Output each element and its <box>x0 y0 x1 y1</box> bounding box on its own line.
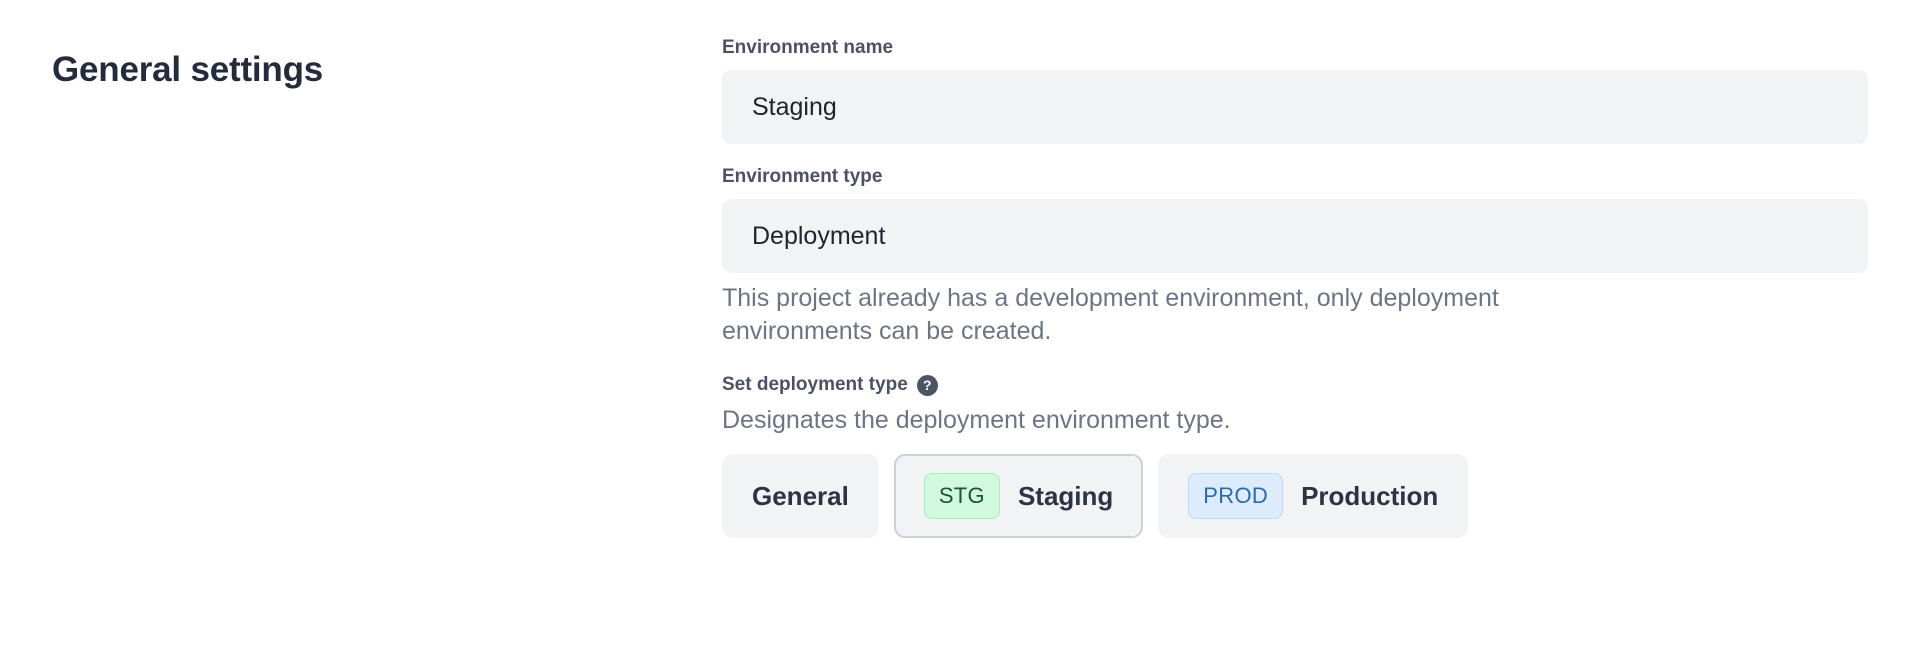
option-label-general: General <box>752 481 849 512</box>
environment-name-label: Environment name <box>722 36 1868 60</box>
option-label-production: Production <box>1301 481 1438 512</box>
deployment-type-label: Set deployment type <box>722 373 908 397</box>
environment-name-field-group: Environment name <box>722 36 1868 144</box>
environment-type-field-group: Environment type This project already ha… <box>722 165 1868 348</box>
page-title: General settings <box>52 49 323 91</box>
deployment-type-option-production[interactable]: PROD Production <box>1158 454 1468 538</box>
prod-badge: PROD <box>1188 473 1283 519</box>
settings-page: General settings Environment name Enviro… <box>0 0 1916 652</box>
environment-type-help-text: This project already has a development e… <box>722 282 1612 348</box>
option-label-staging: Staging <box>1018 481 1113 512</box>
environment-type-input[interactable] <box>722 199 1868 273</box>
environment-type-label: Environment type <box>722 165 1868 189</box>
deployment-type-option-group: General STG Staging PROD Production <box>722 454 1868 538</box>
stg-badge: STG <box>924 473 1000 519</box>
deployment-type-section: Set deployment type ? Designates the dep… <box>722 373 1868 538</box>
environment-name-input[interactable] <box>722 70 1868 144</box>
deployment-type-label-row: Set deployment type ? <box>722 373 1868 397</box>
deployment-type-option-staging[interactable]: STG Staging <box>894 454 1143 538</box>
deployment-type-option-general[interactable]: General <box>722 454 879 538</box>
general-settings-form: Environment name Environment type This p… <box>722 36 1868 538</box>
question-mark-icon[interactable]: ? <box>917 375 938 396</box>
deployment-type-description: Designates the deployment environment ty… <box>722 404 1868 436</box>
